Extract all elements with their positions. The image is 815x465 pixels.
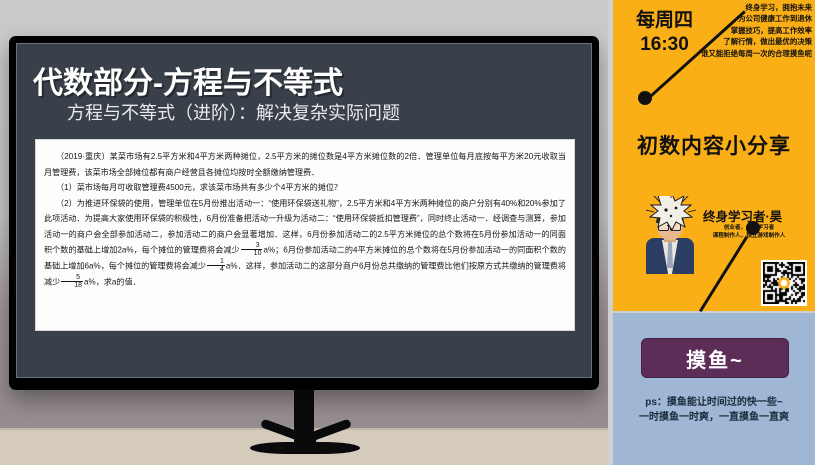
problem-paragraph-q1: （1）菜市场每月可收取管理费4500元，求该菜市场共有多少个4平方米的摊位？	[44, 180, 566, 196]
monitor-stand-base	[250, 442, 360, 454]
promo-blurb-line-1: 终身学习，拥抱未来	[700, 2, 812, 13]
fishing-button[interactable]: 摸鱼~	[641, 338, 789, 378]
slide-subtitle: 方程与不等式（进阶）：解决复杂实际问题	[67, 99, 400, 125]
q2-text-d: a%，求a的值．	[84, 277, 141, 286]
computer-monitor: 代数部分-方程与不等式 方程与不等式（进阶）：解决复杂实际问题 （2019·重庆…	[9, 36, 599, 390]
pointer-dot-top	[638, 91, 652, 105]
screenshot-root: 代数部分-方程与不等式 方程与不等式（进阶）：解决复杂实际问题 （2019·重庆…	[0, 0, 815, 465]
promo-blurb-line-2: 为公司健康工作到退休	[700, 13, 812, 24]
room-scene: 代数部分-方程与不等式 方程与不等式（进阶）：解决复杂实际问题 （2019·重庆…	[0, 0, 608, 465]
problem-paragraph-q2: （2）为推进环保袋的使用，管理单位在5月份推出活动一：“使用环保袋送礼物”，2.…	[44, 196, 566, 290]
qr-code[interactable]	[761, 260, 807, 306]
promo-blurb-line-5: 谁又能拒绝每周一次的合理摸鱼呢	[700, 48, 812, 59]
share-section-title: 初数内容小分享	[613, 130, 815, 160]
problem-text-panel: （2019·重庆）某菜市场有2.5平方米和4平方米两种摊位，2.5平方米的摊位数…	[35, 139, 575, 331]
problem-paragraph-intro: （2019·重庆）某菜市场有2.5平方米和4平方米两种摊位，2.5平方米的摊位数…	[44, 149, 566, 180]
pointer-dot-bottom	[746, 221, 760, 235]
fraction-one-fourth: 14	[207, 258, 225, 273]
schedule-time: 16:30	[622, 34, 707, 56]
fishing-ps-text: ps：摸鱼能让时间过的快一些~ 一时摸鱼一时爽，一直摸鱼一直爽	[617, 395, 811, 425]
monitor-screen: 代数部分-方程与不等式 方程与不等式（进阶）：解决复杂实际问题 （2019·重庆…	[16, 43, 592, 378]
promo-blurb: 终身学习，拥抱未来 为公司健康工作到退休 掌握技巧，提高工作效率 了解行情，做出…	[700, 2, 812, 59]
fishing-panel	[613, 313, 815, 465]
fraction-five-eighteenths: 518	[61, 274, 83, 289]
slide-title: 代数部分-方程与不等式	[33, 58, 343, 102]
monitor-stand-neck	[294, 388, 314, 448]
fishing-ps-line-1: ps：摸鱼能让时间过的快一些~	[617, 395, 811, 410]
presentation-slide: 代数部分-方程与不等式 方程与不等式（进阶）：解决复杂实际问题 （2019·重庆…	[17, 44, 591, 377]
fraction-three-tenths: 310	[241, 242, 263, 257]
schedule-weekday: 每周四	[622, 8, 707, 33]
qr-code-canvas	[763, 262, 805, 304]
fishing-ps-line-2: 一时摸鱼一时爽，一直摸鱼一直爽	[617, 410, 811, 425]
